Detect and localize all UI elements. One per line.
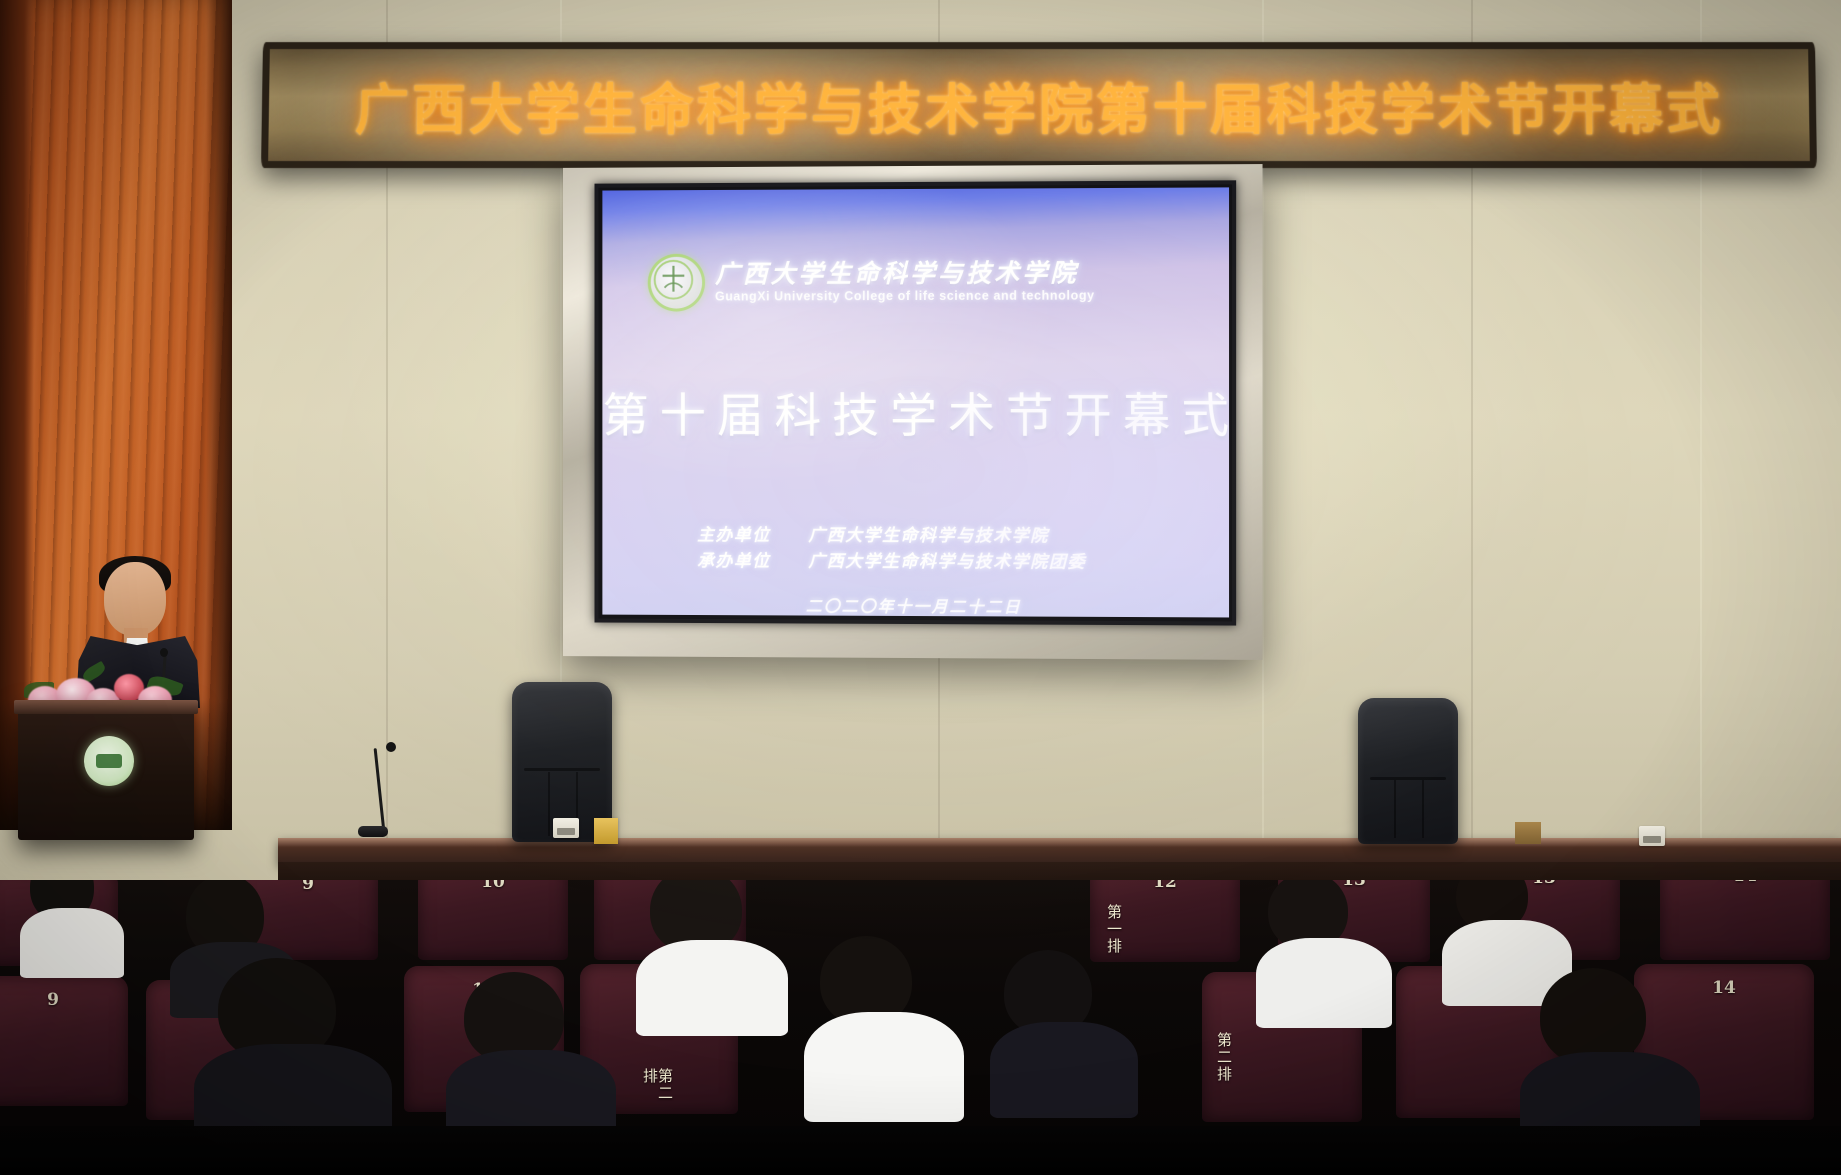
audience-member [464,972,596,1122]
audience-member [1540,968,1680,1128]
seat-row1-10[interactable]: 10 [418,880,568,960]
slide-date: 二〇二〇年十一月二十二日 [602,592,1229,618]
podium-top-surface [14,700,198,714]
chair-right [1358,698,1458,844]
chair-seam [1422,780,1424,838]
audience-member [650,880,770,1016]
slide-header-text: 广西大学生命科学与技术学院 GuangXi University College… [715,260,1095,303]
podium [18,700,194,840]
outlet-right [1639,826,1665,846]
slide-organization-cn: 广西大学生命科学与技术学院 [715,260,1095,287]
projection-screen-frame: 广西大学生命科学与技术学院 GuangXi University College… [563,164,1263,660]
university-seal-icon [84,736,134,786]
row-label-first: 第一排 [1106,904,1121,955]
microphone-capsule-icon [386,742,396,752]
slide-credits: 主办单位 广西大学生命科学与技术学院 承办单位 广西大学生命科学与技术学院团委 [697,522,1086,576]
audience-member [1004,950,1124,1100]
audience-member [820,936,946,1106]
outlet-left [553,818,579,838]
seat-number: 10 [418,880,568,892]
row-label-second-right: 第二排 [1216,1032,1231,1083]
seat-row2-9[interactable]: 9 [0,976,128,1106]
speaker-head [104,562,166,636]
credit-label-organizer: 承办单位 [697,549,808,576]
screen-bezel: 广西大学生命科学与技术学院 GuangXi University College… [594,180,1236,625]
chair-seam [548,772,550,836]
audience-member [1268,880,1378,1012]
yellow-folder [594,818,618,844]
slide-organization-en: GuangXi University College of life scien… [715,290,1095,304]
credit-value-organizer: 广西大学生命科学与技术学院团委 [808,549,1086,576]
seal-inner-mark [96,754,122,768]
floor [0,1126,1841,1175]
credit-label-host: 主办单位 [697,522,808,549]
led-banner: 广西大学生命科学与技术学院第十届科技学术节开幕式 [261,42,1817,168]
auditorium-scene: 广西大学生命科学与技术学院第十届科技学术节开幕式 广西大学生命科学与技术学 [0,0,1841,1175]
credit-row-organizer: 承办单位 广西大学生命科学与技术学院团委 [697,549,1086,577]
cardboard-box [1515,822,1541,844]
seat-number: 9 [0,990,128,1010]
seat-number: 12 [1090,880,1240,892]
credit-value-host: 广西大学生命科学与技术学院 [808,523,1049,550]
slide-header: 广西大学生命科学与技术学院 GuangXi University College… [648,252,1211,312]
slide-title: 第十届科技学术节开幕式 [602,377,1229,446]
row-label-second: 第二排 [642,1068,672,1114]
audience-member [218,958,368,1118]
microphone-base [358,826,388,837]
presentation-slide: 广西大学生命科学与技术学院 GuangXi University College… [602,187,1229,617]
chair-seam [1394,780,1396,838]
university-crest-icon [648,254,705,312]
credit-row-host: 主办单位 广西大学生命科学与技术学院 [697,522,1086,549]
head-table-top [278,838,1841,864]
seat-row1-14[interactable]: 14 [1660,880,1830,960]
seat-number: 14 [1660,880,1830,886]
led-banner-text: 广西大学生命科学与技术学院第十届科技学术节开幕式 [268,66,1809,145]
audience-member [30,880,126,972]
